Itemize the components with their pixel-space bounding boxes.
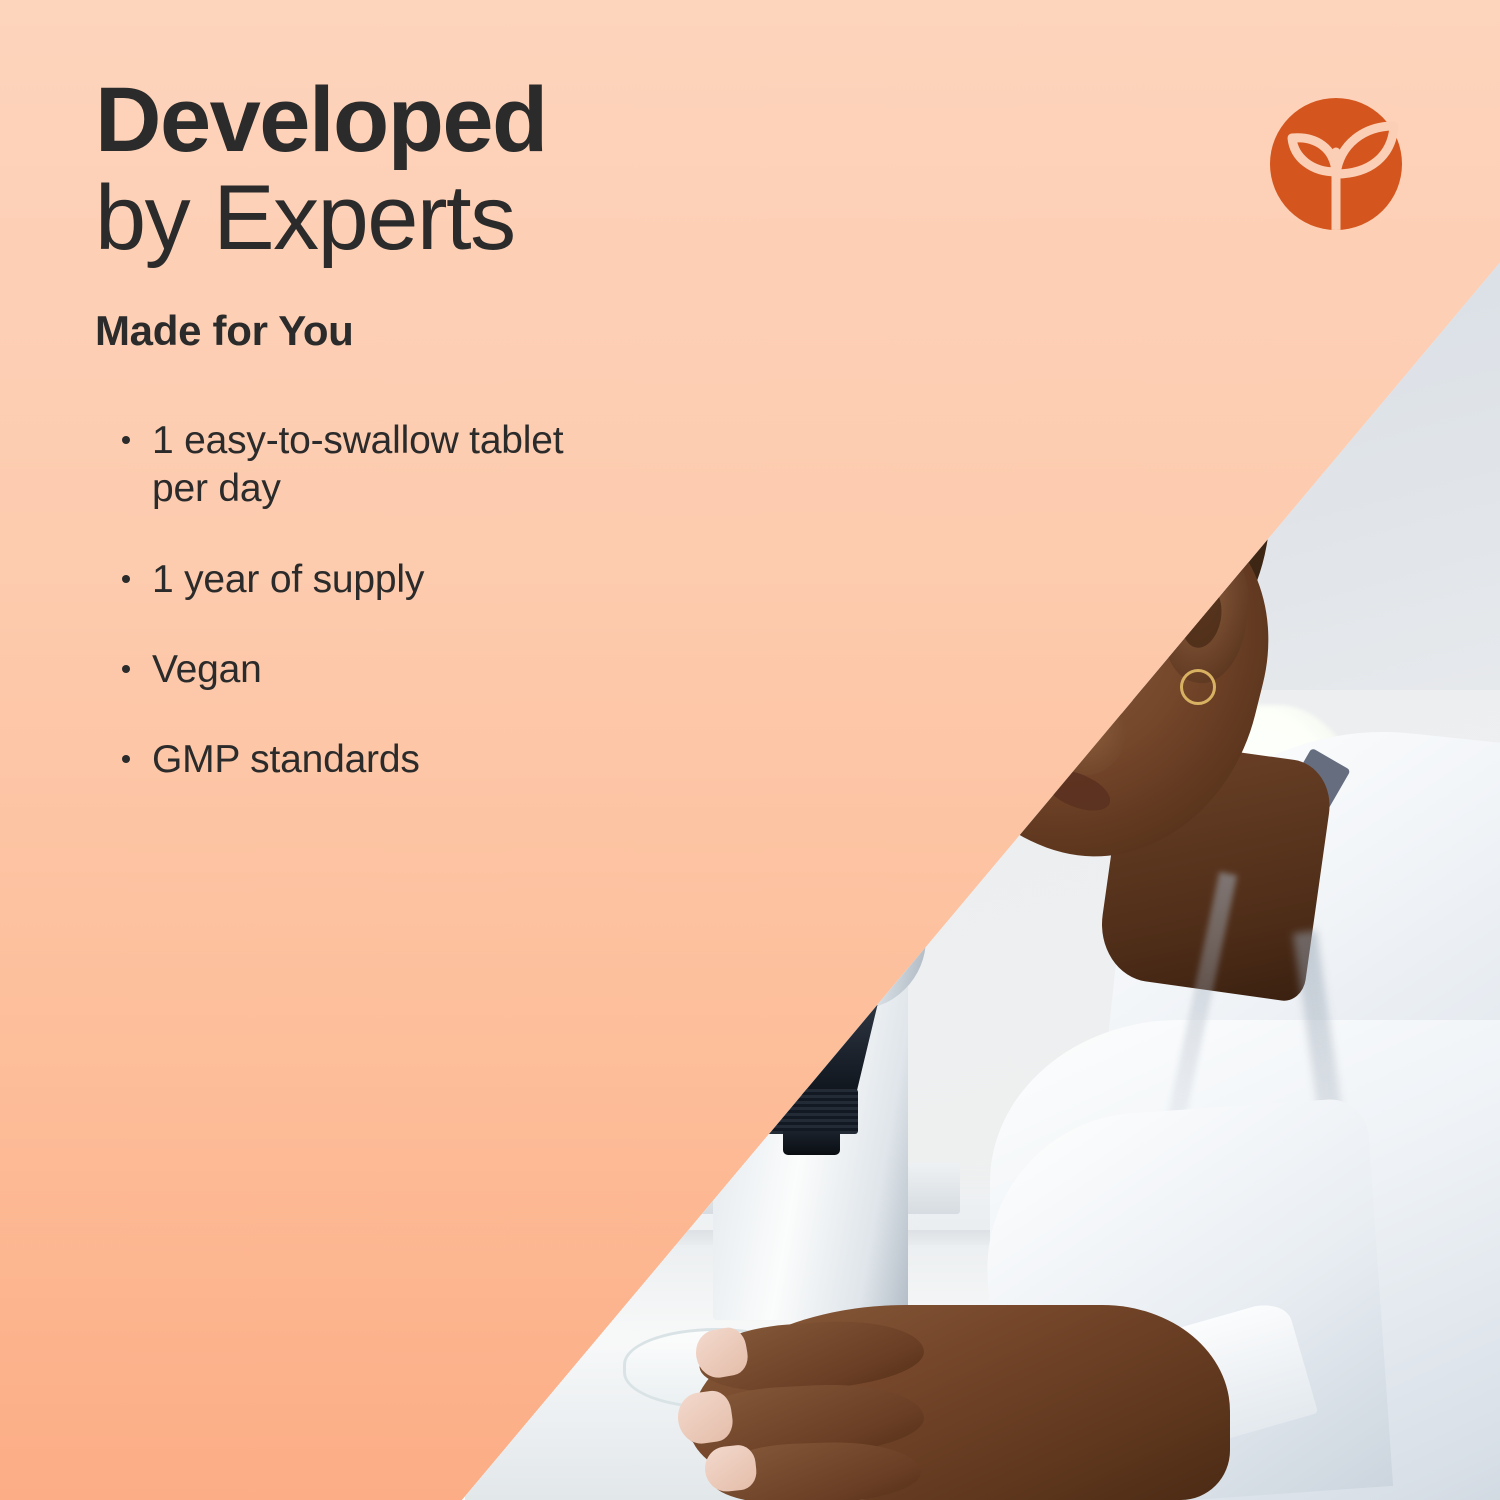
microscope-eyepiece [880, 612, 1024, 751]
feature-list: 1 easy-to-swallow tablet per day 1 year … [95, 417, 715, 785]
bullet-dot-icon [122, 665, 130, 673]
list-item-label: 1 easy-to-swallow tablet per day [152, 419, 563, 510]
list-item: GMP standards [95, 736, 622, 784]
camera-port-icon: ▮▣ [795, 846, 816, 859]
page-title-line-1: Developed [95, 72, 715, 170]
list-item-label: 1 year of supply [152, 558, 424, 601]
microscope-objective-ring [765, 1089, 858, 1134]
page-title-line-2: by Experts [95, 170, 715, 268]
scientist-eyebrow [968, 602, 1080, 662]
microscope-column [713, 810, 908, 1320]
microscope-focus-knob [671, 858, 734, 927]
bullet-dot-icon [122, 575, 130, 583]
microscope-objective-tip [783, 1131, 840, 1155]
brand-logo [1266, 92, 1411, 237]
microscope-knob-grip [677, 867, 728, 920]
list-item-label: Vegan [152, 648, 262, 691]
scientist-eye [986, 650, 1055, 696]
section-subtitle: Made for You [95, 307, 715, 355]
microscope-head [695, 867, 926, 1010]
list-item-label: GMP standards [152, 738, 420, 781]
bullet-dot-icon [122, 755, 130, 763]
list-item: 1 year of supply [95, 556, 622, 604]
microscope-slide-plate [518, 1118, 608, 1253]
beam-splitter-icon: ▮◄ [795, 825, 817, 838]
list-item: 1 easy-to-swallow tablet per day [95, 417, 622, 514]
microscope-neck-band [731, 742, 924, 856]
bullet-dot-icon [122, 436, 130, 444]
product-feature-card: ▮◄ ▮▣ Developed [0, 0, 1500, 1500]
background-red-bottle [669, 873, 705, 942]
scientist-hair [854, 229, 1290, 592]
microscope-adjustment-dial [789, 864, 835, 910]
list-item: Vegan [95, 646, 622, 694]
background-teal-bottle [723, 867, 762, 945]
text-column: Developed by Experts Made for You 1 easy… [95, 72, 715, 785]
microscope-foot [495, 1275, 578, 1335]
page-title: Developed by Experts [95, 72, 715, 267]
microscope-side-lens [608, 1013, 674, 1079]
microscope-objective [743, 1005, 878, 1095]
microscope-eyecup [945, 618, 1030, 720]
